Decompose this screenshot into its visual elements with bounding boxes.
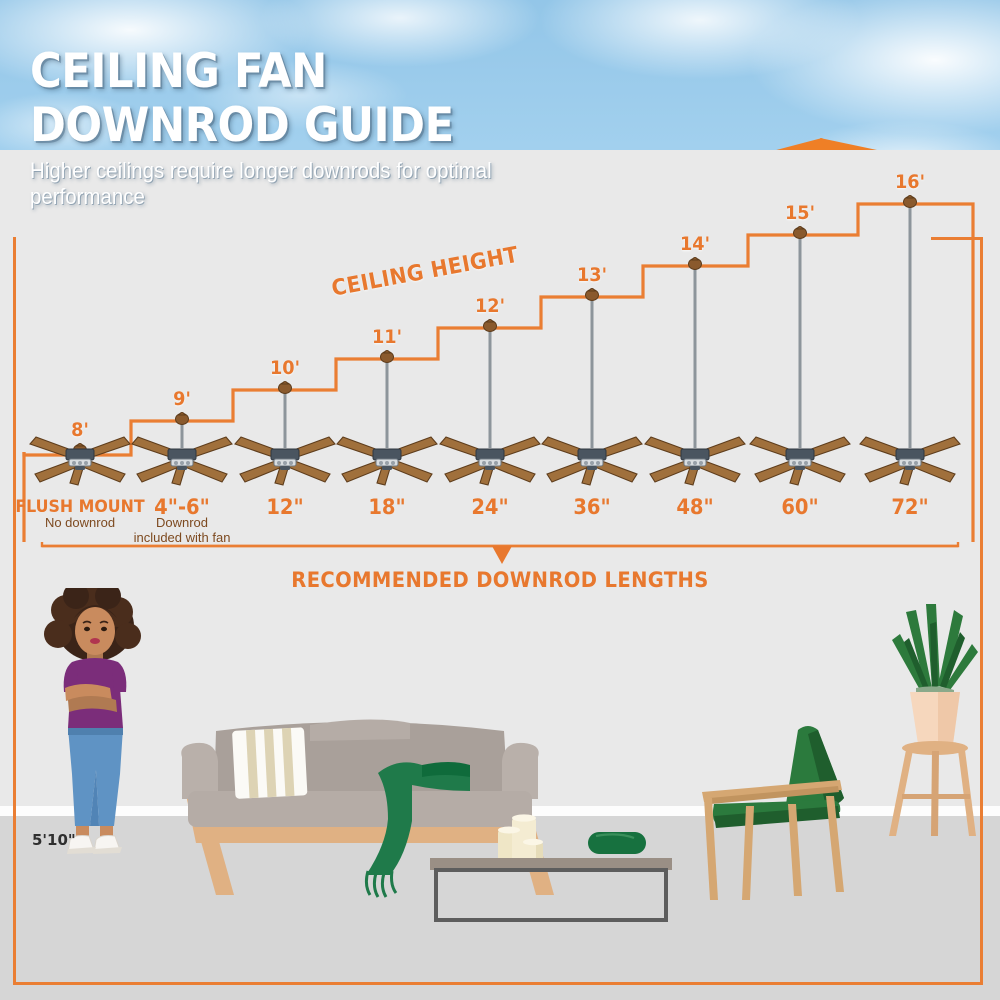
infographic-border-top-right — [931, 237, 983, 240]
ceiling-height-label-16ft: 16' — [895, 171, 925, 193]
ceiling-height-label-15ft: 15' — [785, 202, 815, 224]
infographic-border-frame — [13, 237, 983, 985]
title-line-1: CEILING FAN — [30, 48, 545, 95]
title-line-2: DOWNROD GUIDE — [30, 102, 545, 149]
infographic-canvas: CEILING FAN DOWNROD GUIDE Higher ceiling… — [0, 0, 1000, 1000]
